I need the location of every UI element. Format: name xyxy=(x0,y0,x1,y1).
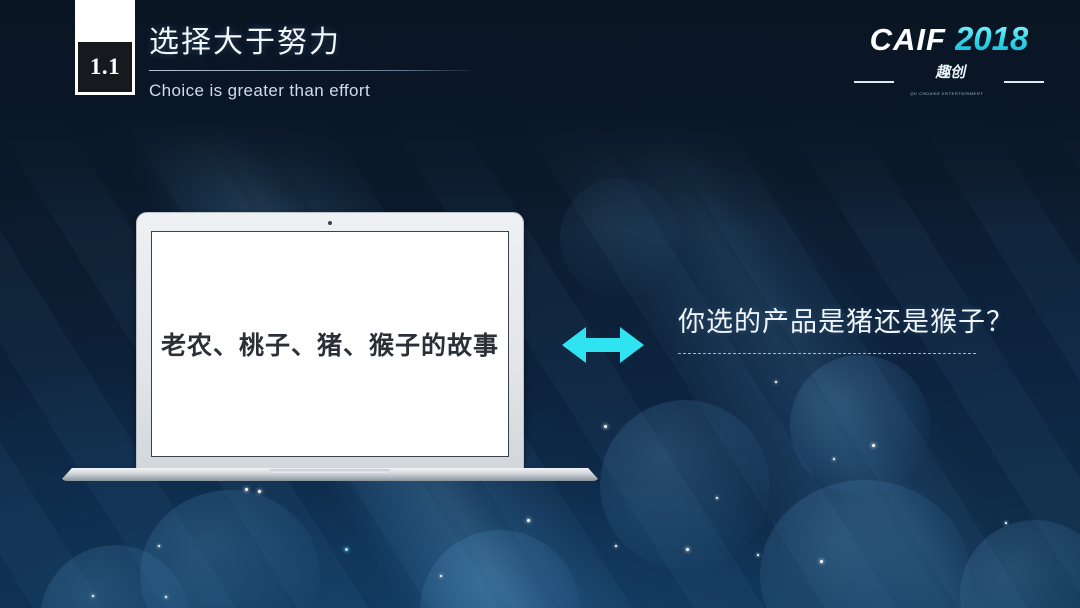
logo-rule-left xyxy=(854,81,894,83)
arrow-svg xyxy=(562,322,644,368)
star-dot xyxy=(158,545,160,547)
star-dot xyxy=(258,490,261,493)
laptop-illustration: 老农、桃子、猪、猴子的故事 xyxy=(136,212,524,470)
brand-logo-main: CAIF 2018 xyxy=(854,22,1044,55)
section-number-badge: 1.1 xyxy=(75,0,135,95)
laptop-screen: 老农、桃子、猪、猴子的故事 xyxy=(151,231,509,457)
star-dot xyxy=(757,554,759,556)
title-divider xyxy=(149,70,469,71)
page-subtitle: Choice is greater than effort xyxy=(149,81,469,101)
brand-sub-name: 趣创 xyxy=(934,63,968,81)
star-dot xyxy=(833,458,835,460)
star-dot xyxy=(1005,522,1007,524)
star-dot xyxy=(872,444,875,447)
laptop-base-notch xyxy=(270,469,390,473)
bokeh-circle xyxy=(790,355,930,495)
page-title: 选择大于努力 xyxy=(149,24,469,62)
star-dot xyxy=(245,488,248,491)
star-dot xyxy=(440,575,442,577)
laptop-base xyxy=(60,468,600,481)
star-dot xyxy=(686,548,689,551)
star-dot xyxy=(92,595,94,597)
question-underline xyxy=(678,353,976,354)
brand-year: 2018 xyxy=(955,22,1028,55)
star-dot xyxy=(615,545,617,547)
star-dot xyxy=(527,519,530,522)
star-dot xyxy=(820,560,823,563)
star-dot xyxy=(716,497,718,499)
question-block: 你选的产品是猪还是猴子？ xyxy=(678,305,1014,354)
webcam-icon xyxy=(328,221,332,225)
brand-name: CAIF xyxy=(870,24,946,55)
section-number-value: 1.1 xyxy=(78,42,132,92)
star-dot xyxy=(165,596,167,598)
star-dot xyxy=(604,425,607,428)
brand-tagline: QU CHUANG ENTERTAINMENT xyxy=(910,91,984,96)
slide-canvas: 1.1 选择大于努力 Choice is greater than effort… xyxy=(0,0,1080,608)
double-headed-arrow-icon xyxy=(562,322,644,368)
star-dot xyxy=(345,548,348,551)
bokeh-circle xyxy=(600,400,770,570)
star-dot xyxy=(775,381,777,383)
brand-logo: CAIF 2018 趣创 QU CHUANG ENTERTAINMENT xyxy=(854,22,1044,94)
laptop-screen-text: 老农、桃子、猪、猴子的故事 xyxy=(161,326,499,362)
header-title-block: 选择大于努力 Choice is greater than effort xyxy=(149,24,469,101)
logo-rule-right xyxy=(1004,81,1044,83)
laptop-lid: 老农、桃子、猪、猴子的故事 xyxy=(136,212,524,470)
brand-sub-wrap: 趣创 QU CHUANG ENTERTAINMENT xyxy=(899,64,999,100)
brand-logo-sub: 趣创 QU CHUANG ENTERTAINMENT xyxy=(854,64,1044,100)
question-text: 你选的产品是猪还是猴子？ xyxy=(678,305,1014,339)
